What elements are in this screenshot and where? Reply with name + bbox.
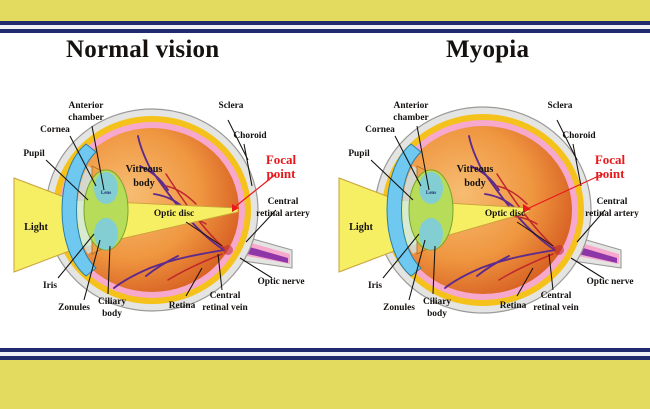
eye-diagram-myopia: Lens — [325, 82, 650, 340]
label-central-retinal-vein-line2: retinal vein — [533, 303, 579, 313]
titles-row: Normal vision Myopia — [0, 36, 650, 70]
label-focal-point-line1: Focal — [266, 152, 297, 167]
label-retina: Retina — [169, 301, 196, 311]
label-anterior-chamber-line1: Anterior — [394, 101, 429, 111]
label-ciliary-body-line1: Ciliary — [423, 297, 451, 307]
lens-inline-label: Lens — [101, 191, 111, 196]
label-vitreous-body-line2: body — [464, 178, 486, 189]
label-light: Light — [349, 222, 373, 233]
label-central-retinal-artery-line1: Central — [597, 197, 628, 207]
label-choroid: Choroid — [233, 131, 267, 141]
frame-band-yellow-top — [0, 0, 650, 21]
label-focal-point-line2: point — [267, 166, 297, 181]
label-pupil: Pupil — [23, 149, 45, 159]
label-anterior-chamber-line2: chamber — [393, 113, 428, 123]
title-normal-vision: Normal vision — [66, 36, 219, 64]
label-anterior-chamber-line2: chamber — [68, 113, 103, 123]
eye-diagram-normal-vision: Lens — [0, 82, 325, 340]
diagram-stage: Lens — [0, 82, 650, 340]
label-retina: Retina — [500, 301, 527, 311]
label-optic-nerve: Optic nerve — [586, 277, 633, 287]
label-optic-nerve: Optic nerve — [257, 277, 304, 287]
label-vitreous-body-line1: Vitreous — [126, 164, 163, 175]
label-sclera: Sclera — [219, 101, 244, 111]
label-central-retinal-vein-line1: Central — [541, 291, 572, 301]
label-central-retinal-artery-line1: Central — [268, 197, 299, 207]
title-myopia: Myopia — [446, 36, 529, 64]
label-light: Light — [24, 222, 48, 233]
frame-band-yellow-bottom — [0, 360, 650, 409]
label-ciliary-body-line2: body — [102, 309, 122, 319]
label-choroid: Choroid — [562, 131, 596, 141]
label-central-retinal-artery-line2: retinal artery — [585, 209, 639, 219]
label-central-retinal-vein-line2: retinal vein — [202, 303, 248, 313]
label-central-retinal-vein-line1: Central — [210, 291, 241, 301]
label-zonules: Zonules — [58, 303, 90, 313]
label-cornea: Cornea — [365, 125, 395, 135]
lens-inline-label: Lens — [426, 191, 436, 196]
label-zonules: Zonules — [383, 303, 415, 313]
label-optic-disc: Optic disc — [485, 209, 525, 219]
label-focal-point-line1: Focal — [595, 152, 626, 167]
label-pupil: Pupil — [348, 149, 370, 159]
label-iris: Iris — [368, 281, 382, 291]
label-optic-disc: Optic disc — [154, 209, 194, 219]
label-vitreous-body-line2: body — [133, 178, 155, 189]
label-vitreous-body-line1: Vitreous — [457, 164, 494, 175]
optic-disc-marker — [554, 245, 564, 255]
label-sclera: Sclera — [548, 101, 573, 111]
label-iris: Iris — [43, 281, 57, 291]
optic-disc-marker — [223, 245, 233, 255]
label-cornea: Cornea — [40, 125, 70, 135]
label-central-retinal-artery-line2: retinal artery — [256, 209, 310, 219]
frame-band-navy-upper-inner — [0, 29, 650, 33]
label-focal-point-line2: point — [596, 166, 626, 181]
label-ciliary-body-line2: body — [427, 309, 447, 319]
label-ciliary-body-line1: Ciliary — [98, 297, 126, 307]
poster-root: Normal vision Myopia — [0, 0, 650, 409]
label-anterior-chamber-line1: Anterior — [69, 101, 104, 111]
